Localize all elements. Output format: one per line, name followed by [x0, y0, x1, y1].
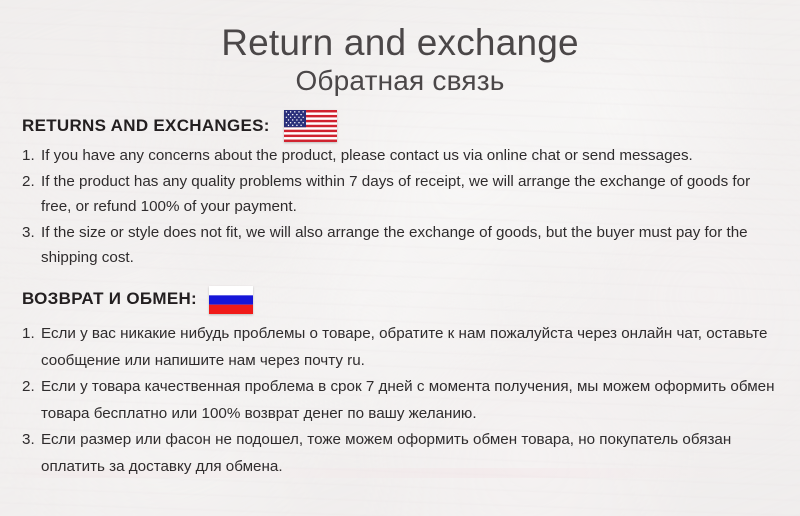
page-title-russian: Обратная связь [0, 65, 800, 97]
returns-list-russian: 1. Если у вас никакие нибудь проблемы о … [22, 321, 778, 480]
list-item-text: Если у товара качественная проблема в ср… [41, 374, 778, 427]
section-heading-english: RETURNS AND EXCHANGES: [22, 110, 337, 142]
list-item-marker: 2. [22, 169, 41, 195]
list-item-marker: 2. [22, 374, 41, 401]
section-heading-english-label: RETURNS AND EXCHANGES: [22, 116, 270, 136]
list-item: 3. Если размер или фасон не подошел, тож… [22, 427, 778, 480]
flag-us-icon [284, 110, 337, 142]
list-item-text: If the size or style does not fit, we wi… [41, 220, 778, 271]
list-item-marker: 1. [22, 321, 41, 348]
list-item: 1. If you have any concerns about the pr… [22, 143, 778, 169]
list-item: 2. Если у товара качественная проблема в… [22, 374, 778, 427]
list-item-text: Если размер или фасон не подошел, тоже м… [41, 427, 778, 480]
list-item-marker: 3. [22, 220, 41, 246]
list-item-text: If you have any concerns about the produ… [41, 143, 778, 169]
list-item-text: If the product has any quality problems … [41, 169, 778, 220]
section-heading-russian-label: ВОЗВРАТ И ОБМЕН: [22, 289, 197, 309]
list-item-marker: 3. [22, 427, 41, 454]
list-item: 3. If the size or style does not fit, we… [22, 220, 778, 271]
page-title-english: Return and exchange [0, 22, 800, 64]
section-heading-russian: ВОЗВРАТ И ОБМЕН: [22, 285, 253, 313]
list-item-marker: 1. [22, 143, 41, 169]
returns-list-english: 1. If you have any concerns about the pr… [22, 143, 778, 271]
list-item: 2. If the product has any quality proble… [22, 169, 778, 220]
return-and-exchange-banner: Return and exchange Обратная связь RETUR… [0, 0, 800, 516]
page-title: Return and exchange Обратная связь [0, 22, 800, 97]
list-item-text: Если у вас никакие нибудь проблемы о тов… [41, 321, 778, 374]
flag-ru-icon [209, 286, 253, 314]
banner-content: Return and exchange Обратная связь RETUR… [0, 0, 800, 516]
list-item: 1. Если у вас никакие нибудь проблемы о … [22, 321, 778, 374]
